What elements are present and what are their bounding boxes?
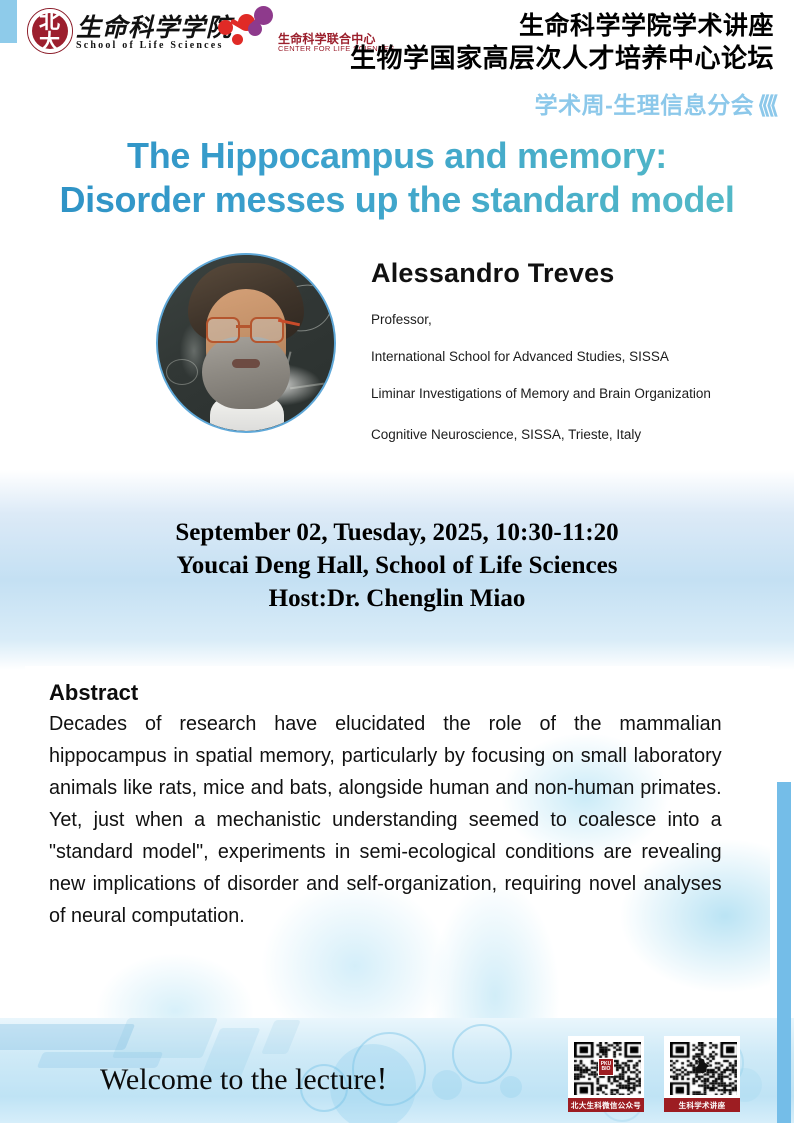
qr-code-image <box>664 1036 740 1098</box>
qr-code-wechat-account[interactable]: PKUBIO 北大生科微信公众号 <box>568 1036 644 1112</box>
speaker-affiliation-2: International School for Advanced Studie… <box>371 349 669 364</box>
header-line-2: 生物学国家高层次人才培养中心论坛 <box>350 38 774 75</box>
lecture-title: The Hippocampus and memory: Disorder mes… <box>0 134 794 222</box>
event-venue: Youcai Deng Hall, School of Life Science… <box>0 549 794 582</box>
qr-caption: 北大生科微信公众号 <box>568 1098 644 1112</box>
qr-code-group: PKUBIO 北大生科微信公众号 生科学术讲座 <box>568 1036 746 1118</box>
event-datetime: September 02, Tuesday, 2025, 10:30-11:20 <box>0 516 794 549</box>
header-subtitle: 学术周-生理信息分会⟪⟪ <box>535 86 774 120</box>
speaker-name: Alessandro Treves <box>371 258 615 289</box>
speaker-avatar <box>156 253 336 433</box>
lecture-title-line-2: Disorder messes up the standard model <box>0 178 794 222</box>
speaker-affiliation-3: Liminar Investigations of Memory and Bra… <box>371 386 711 401</box>
abstract-heading: Abstract <box>49 680 746 706</box>
speaker-affiliation-1: Professor, <box>371 312 432 327</box>
welcome-message: Welcome to the lecture! <box>100 1060 387 1097</box>
lecture-poster: 北大 生命科学学院 School of Life Sciences 生命科学联合… <box>0 0 794 1123</box>
lecture-title-line-1: The Hippocampus and memory: <box>127 135 667 176</box>
qr-caption: 生科学术讲座 <box>664 1098 740 1112</box>
header-line-1: 生命科学学院学术讲座 <box>519 6 774 42</box>
event-details: September 02, Tuesday, 2025, 10:30-11:20… <box>0 516 794 615</box>
right-edge-accent-bar <box>777 782 791 1123</box>
event-host: Host:Dr. Chenglin Miao <box>0 582 794 615</box>
pku-seal-glyph: 北大 <box>39 11 61 53</box>
chevron-left-icon: ⟪⟪ <box>757 92 774 119</box>
abstract-section: Abstract Decades of research have elucid… <box>25 666 770 1018</box>
speaker-affiliation-4: Cognitive Neuroscience, SISSA, Trieste, … <box>371 427 641 442</box>
cls-logo-icon: 生命科学联合中心 CENTER FOR LIFE SCIENCES <box>218 6 364 58</box>
pku-seal-icon: 北大 <box>27 8 73 54</box>
qr-center-logo: PKUBIO <box>598 1058 614 1076</box>
qr-code-image: PKUBIO <box>568 1036 644 1098</box>
abstract-body: Decades of research have elucidated the … <box>49 708 722 932</box>
qr-code-lecture-series[interactable]: 生科学术讲座 <box>664 1036 740 1112</box>
header-subtitle-text: 学术周-生理信息分会 <box>535 92 755 118</box>
school-name-cn: 生命科学学院 <box>76 8 232 44</box>
school-name-en: School of Life Sciences <box>76 40 224 51</box>
welcome-exclamation: ! <box>377 1060 388 1096</box>
welcome-text: Welcome to the lecture <box>100 1063 377 1096</box>
poster-header: 北大 生命科学学院 School of Life Sciences 生命科学联合… <box>0 0 794 128</box>
